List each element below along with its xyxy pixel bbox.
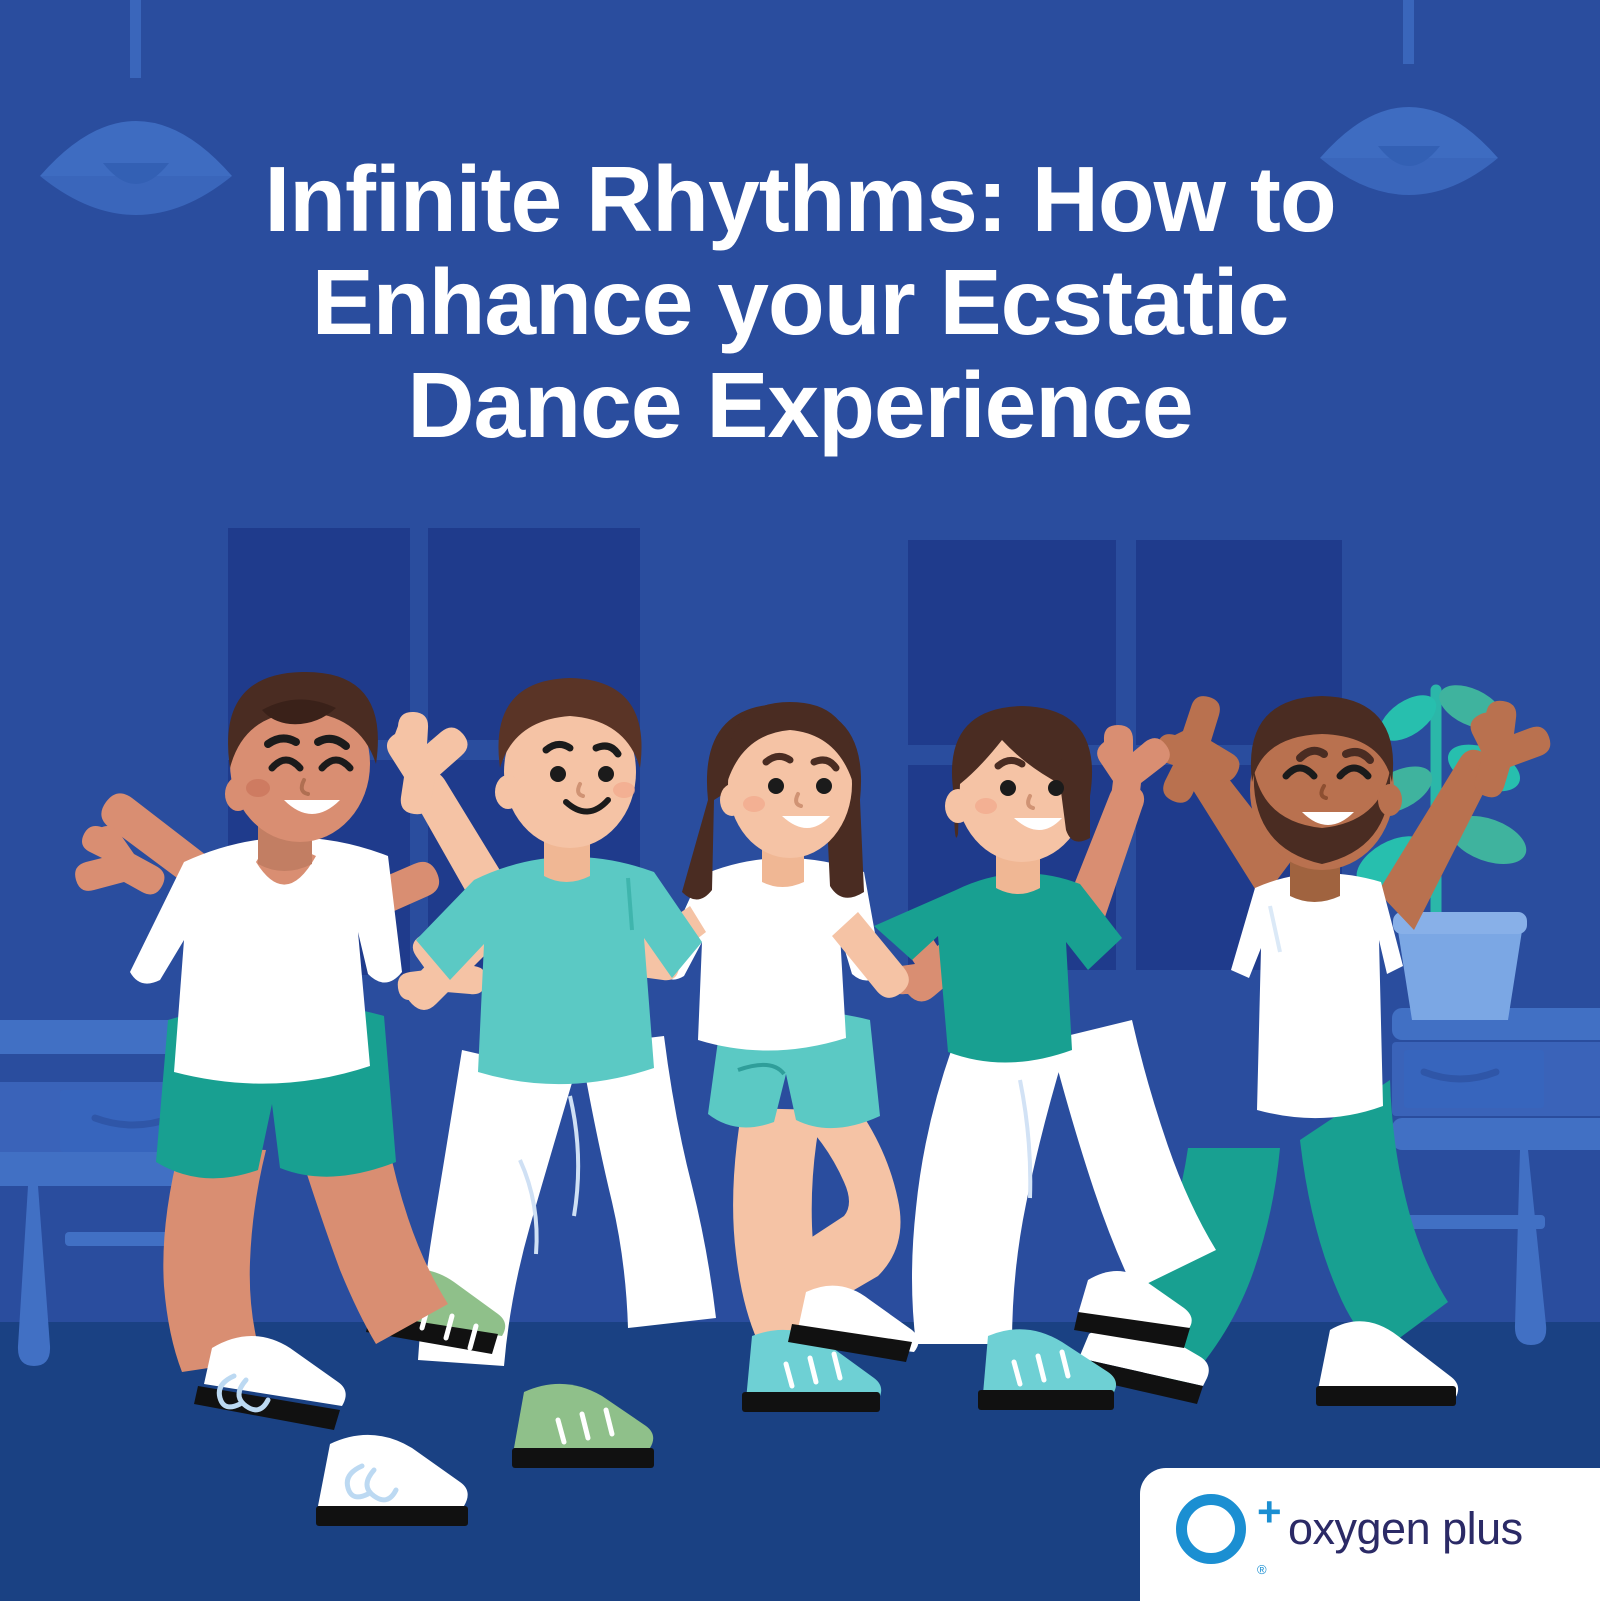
logo-lockup: + ® oxygen plus (1176, 1494, 1523, 1564)
oxygen-o-icon: + ® (1176, 1494, 1246, 1564)
title-line-2: Enhance your Ecstatic (190, 251, 1410, 354)
brand-logo[interactable]: + ® oxygen plus (1140, 1468, 1600, 1601)
title-line-3: Dance Experience (190, 354, 1410, 457)
plus-icon: + (1257, 1497, 1282, 1527)
brand-name: oxygen plus (1288, 1503, 1523, 1555)
poster-title: Infinite Rhythms: How to Enhance your Ec… (0, 148, 1600, 457)
poster-canvas: Infinite Rhythms: How to Enhance your Ec… (0, 0, 1600, 1601)
title-line-1: Infinite Rhythms: How to (190, 148, 1410, 251)
registered-icon: ® (1257, 1563, 1267, 1576)
